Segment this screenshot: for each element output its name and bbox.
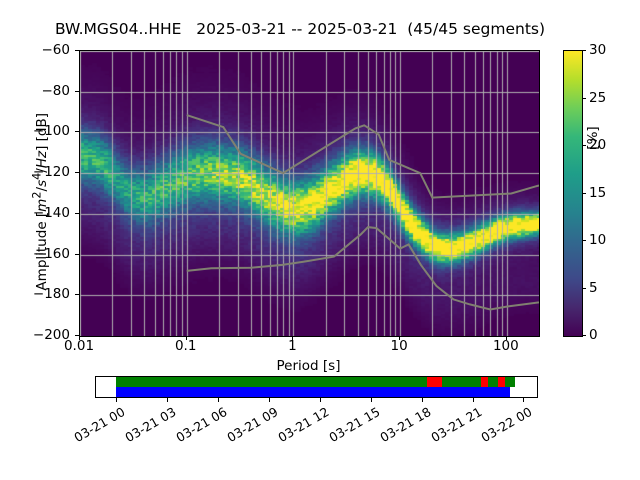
x-axis-tick-mark xyxy=(186,336,187,340)
timeline-tick-label: 03-22 00 xyxy=(474,404,535,448)
colorbar-tick-label: 10 xyxy=(589,232,606,248)
timeline-tick-label: 03-21 21 xyxy=(423,404,484,448)
high-noise-model-curve xyxy=(187,115,539,198)
y-axis-tick-label: −60 xyxy=(28,42,70,58)
y-axis-tick-mark xyxy=(75,50,79,51)
colorbar-tick-label: 0 xyxy=(589,327,598,343)
coverage-segment-ok xyxy=(505,377,515,387)
x-axis-tick-label: 10 xyxy=(391,338,408,354)
colorbar-tick-mark xyxy=(582,50,586,51)
x-axis-label: Period [s] xyxy=(79,358,538,374)
coverage-segment-ok xyxy=(488,377,498,387)
peterson-noise-models xyxy=(80,51,539,336)
timeline-tick-mark xyxy=(523,398,524,402)
x-axis-tick-mark xyxy=(399,336,400,340)
coverage-segment-gap xyxy=(427,377,442,387)
low-noise-model-curve xyxy=(187,227,539,309)
colorbar-label: [%] xyxy=(585,98,601,178)
x-axis-tick-mark xyxy=(79,336,80,340)
timeline-tick-label: 03-21 00 xyxy=(67,404,128,448)
timeline-tick-label: 03-21 18 xyxy=(372,404,433,448)
page-title: BW.MGS04..HHE 2025-03-21 -- 2025-03-21 (… xyxy=(0,20,600,38)
y-axis-tick-mark xyxy=(75,172,79,173)
y-axis-tick-mark xyxy=(75,91,79,92)
y-axis-tick-mark xyxy=(75,213,79,214)
colorbar-tick-label: 30 xyxy=(589,42,606,58)
colorbar xyxy=(563,50,583,337)
coverage-segment-ok xyxy=(116,377,426,387)
ppsd-figure: BW.MGS04..HHE 2025-03-21 -- 2025-03-21 (… xyxy=(0,0,640,480)
timeline-tick-label: 03-21 12 xyxy=(270,404,331,448)
timeline-tick-label: 03-21 09 xyxy=(219,404,280,448)
colorbar-tick-mark xyxy=(582,335,586,336)
x-axis-tick-label: 1 xyxy=(288,338,297,354)
colorbar-tick-label: 15 xyxy=(589,185,606,201)
timeline-tick-mark xyxy=(473,398,474,402)
x-axis-tick-label: 0.01 xyxy=(64,338,94,354)
colorbar-tick-mark xyxy=(582,240,586,241)
y-axis-tick-mark xyxy=(75,254,79,255)
x-axis-tick-mark xyxy=(506,336,507,340)
timeline-tick-label: 03-21 03 xyxy=(118,404,179,448)
timeline-tick-mark xyxy=(269,398,270,402)
ppsd-plot-area xyxy=(79,50,540,337)
psd-segment-psd xyxy=(116,387,510,398)
coverage-segment-gap xyxy=(481,377,488,387)
timeline-tick-mark xyxy=(422,398,423,402)
timeline-tick-label: 03-21 06 xyxy=(168,404,229,448)
y-axis-label: Amplitude [m2/s4/Hz] [dB] xyxy=(30,72,50,332)
timeline-tick-label: 03-21 15 xyxy=(321,404,382,448)
timeline-tick-mark xyxy=(371,398,372,402)
colorbar-tick-mark xyxy=(582,193,586,194)
x-axis-tick-label: 100 xyxy=(493,338,519,354)
coverage-segment-gap xyxy=(498,377,505,387)
data-coverage-timeline xyxy=(95,376,538,398)
x-axis-tick-mark xyxy=(292,336,293,340)
timeline-tick-mark xyxy=(320,398,321,402)
colorbar-tick-mark xyxy=(582,288,586,289)
y-axis-tick-mark xyxy=(75,294,79,295)
x-axis-tick-label: 0.1 xyxy=(175,338,196,354)
timeline-tick-mark xyxy=(167,398,168,402)
y-axis-tick-mark xyxy=(75,131,79,132)
timeline-tick-mark xyxy=(116,398,117,402)
coverage-segment-ok xyxy=(442,377,481,387)
colorbar-tick-label: 5 xyxy=(589,280,598,296)
timeline-tick-mark xyxy=(218,398,219,402)
